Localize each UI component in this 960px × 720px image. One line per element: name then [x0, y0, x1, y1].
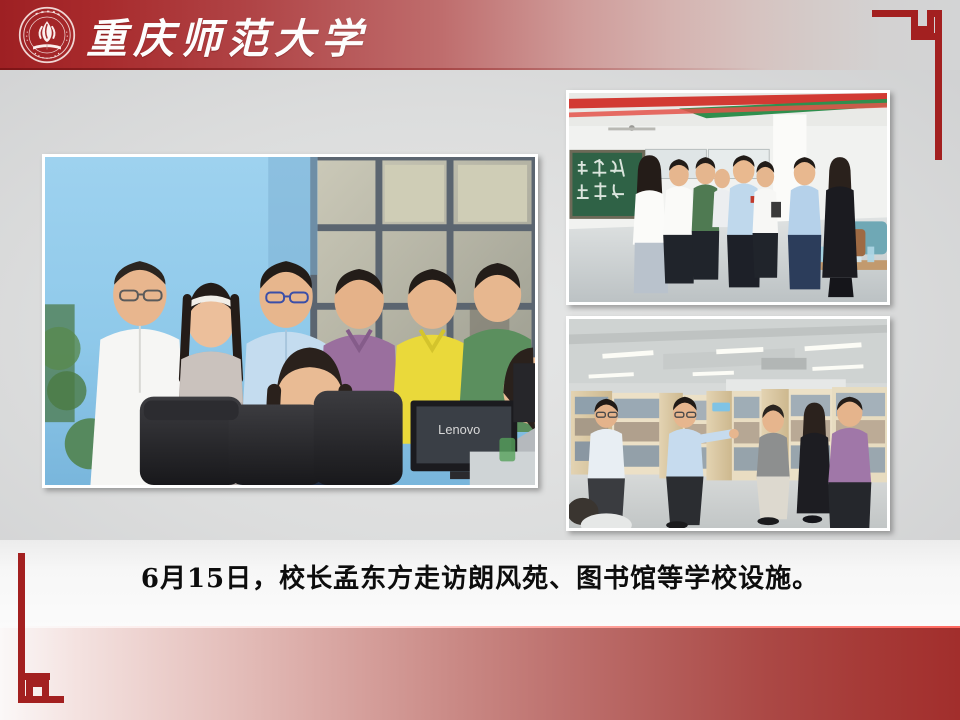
photo-classroom-visit: [566, 90, 890, 305]
photo-library-visit: [566, 316, 890, 531]
corner-ornament-bottom-left-icon: [18, 553, 88, 708]
photo-lang-feng-yuan-office: Lenovo Lenovo: [42, 154, 538, 488]
university-seal-icon: [18, 6, 76, 64]
slide-caption: 6月15日，校长孟东方走访朗风苑、图书馆等学校设施。: [0, 558, 960, 595]
svg-text:Lenovo: Lenovo: [438, 422, 480, 437]
university-wordmark: 重庆师范大学: [86, 4, 368, 66]
presentation-slide: 重庆师范大学: [0, 0, 960, 720]
footer-banner: [0, 628, 960, 720]
